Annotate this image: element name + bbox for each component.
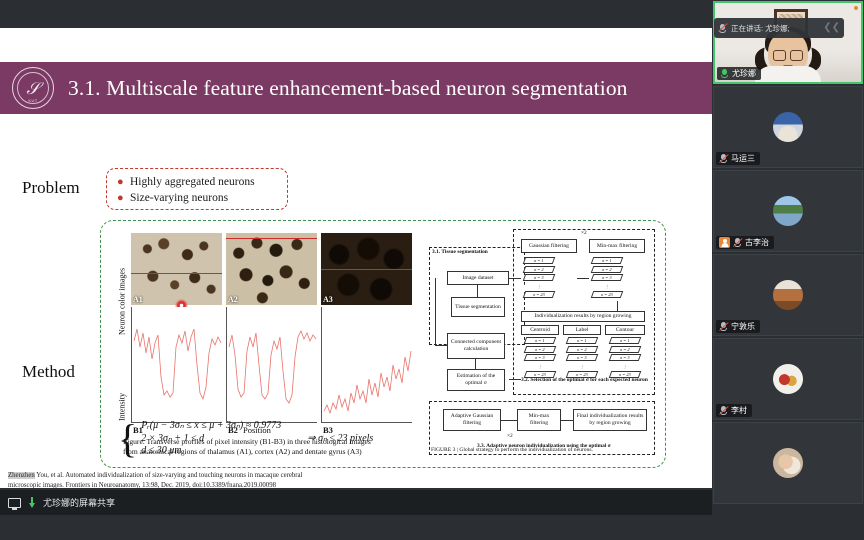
sigma-stack-centroid: σ = 1 σ = 2 σ = 3 ⋮ σ = 23	[525, 337, 555, 378]
box-estimation-optimal-sigma: Estimation of the optimal σ	[447, 369, 505, 391]
method-label: Method	[22, 362, 75, 382]
sigma-layer: σ = 2	[591, 266, 624, 273]
sigma-layer-ellipsis: ⋮	[524, 363, 557, 370]
histology-image-row: A1 A2 A3	[131, 233, 413, 305]
scan-line	[226, 238, 317, 239]
sigma-stack-contour: σ = 1 σ = 2 σ = 3 ⋮ σ = 23	[610, 337, 640, 378]
host-badge-icon	[719, 237, 730, 248]
equation-line-2: 2 × 3σₙ + 1 ≤ d	[141, 433, 281, 446]
profile-line-b3	[322, 307, 413, 423]
section-title-1: 3.1. Tissue segmentation	[432, 249, 488, 255]
sigma-layer: σ = 2	[523, 266, 556, 273]
participant-name: 尤珍娜	[732, 68, 756, 79]
participant-name-badge: 宁敦乐	[716, 320, 760, 333]
equation-line-3: d ≤ 30 μm	[141, 445, 281, 458]
arrow-connector	[509, 379, 521, 380]
arrow-connector	[509, 278, 521, 279]
sigma-stack-gaussian: σ = 1 σ = 2 σ = 3 ⋮ σ = 23	[524, 257, 554, 298]
arrow-connector	[477, 285, 478, 297]
mic-muted-icon[interactable]	[718, 23, 727, 34]
list-item: ● Highly aggregated neurons	[117, 174, 279, 190]
box-minmax-filtering: Min-max filtering	[589, 239, 645, 253]
zoom-meeting-window: 𝒮 KUT 3.1. Multiscale feature enhancemen…	[0, 0, 864, 540]
sigma-stack-label: σ = 1 σ = 2 σ = 3 ⋮ σ = 23	[567, 337, 597, 378]
sigma-layer-ellipsis: ⋮	[523, 283, 556, 290]
screen-share-status-bar: 尤珍娜的屏幕共享	[0, 490, 712, 515]
participant-name: 李村	[731, 405, 747, 416]
participant-name: 宁敦乐	[731, 321, 755, 332]
citation-line1: You, et al. Automated individualization …	[35, 472, 303, 479]
box-region-growing: Individualization results by region grow…	[521, 311, 645, 322]
presentation-slide: 𝒮 KUT 3.1. Multiscale feature enhancemen…	[0, 28, 712, 488]
method-flow-diagram: 3.1. Tissue segmentation Image dataset T…	[429, 227, 657, 463]
video-tile-speaker[interactable]: 尤珍娜	[713, 1, 863, 84]
arrow-connector	[475, 359, 476, 369]
sigma-layer: σ = 23	[524, 371, 557, 378]
box-gaussian-filtering: Gaussian filtering	[521, 239, 577, 253]
mic-muted-icon	[719, 321, 728, 332]
active-speaker-bar[interactable]: 正在讲话: 尤珍娜; ❮❮	[714, 18, 844, 38]
sigma-layer: σ = 2	[609, 346, 642, 353]
avatar	[773, 448, 803, 478]
participant-name-badge: 李村	[716, 404, 752, 417]
participant-name: 马运三	[731, 153, 755, 164]
citation-footnote: Zhenzhen You, et al. Automated individua…	[8, 471, 428, 488]
sigma-layer: σ = 1	[524, 337, 557, 344]
arrow-connector	[435, 278, 436, 346]
box-contour: Contour	[605, 325, 645, 335]
box-tissue-segmentation: Tissue segmentation	[451, 297, 505, 317]
glasses-icon	[773, 50, 803, 59]
histology-image-a2: A2	[226, 233, 317, 305]
sigma-layer: σ = 1	[609, 337, 642, 344]
sigma-layer: σ = 23	[609, 371, 642, 378]
intensity-plot-b2: B2	[226, 307, 317, 423]
sigma-layer: σ = 3	[524, 354, 557, 361]
participant-name-badge: 尤珍娜	[717, 67, 761, 80]
video-tile-participant[interactable]: 马运三	[713, 86, 863, 168]
sigma-layer-ellipsis: ⋮	[566, 363, 599, 370]
sigma-layer: σ = 2	[524, 346, 557, 353]
image-tag: A2	[228, 295, 238, 304]
screen-share-icon	[8, 498, 21, 508]
bullet-icon: ●	[117, 174, 130, 190]
participant-sidebar[interactable]: 尤珍娜 马运三 古李治 宁敦乐	[712, 0, 864, 540]
citation-line2: microscopic images. Frontiers in Neuroan…	[8, 481, 428, 489]
shared-screen-area: 𝒮 KUT 3.1. Multiscale feature enhancemen…	[0, 0, 712, 515]
participant-name: 古李治	[745, 237, 769, 248]
sigma-layer: σ = 3	[609, 354, 642, 361]
chevron-collapse-icon[interactable]: ❮❮	[823, 23, 840, 33]
person-shirt	[755, 66, 821, 82]
scan-line	[321, 269, 412, 270]
problem-section: Problem ● Highly aggregated neurons ● Si…	[0, 166, 712, 212]
video-tile-participant[interactable]: 李村	[713, 338, 863, 420]
arrow-connector	[435, 345, 448, 346]
box-adaptive-gaussian: Adaptive Gaussian filtering	[443, 409, 501, 431]
mic-muted-icon	[719, 405, 728, 416]
mic-muted-icon	[719, 153, 728, 164]
avatar	[773, 196, 803, 226]
arrow-connector	[617, 301, 618, 311]
brace-icon: {	[118, 422, 137, 456]
x2-label-bottom: ×2	[507, 433, 513, 439]
bullet-text: Highly aggregated neurons	[130, 174, 255, 190]
box-final-result: Final individualization results by regio…	[573, 409, 647, 431]
video-tile-participant[interactable]: 古李治	[713, 170, 863, 252]
logo-text: KUT	[13, 98, 53, 103]
active-speaker-label: 正在讲话: 尤珍娜;	[731, 23, 790, 34]
profile-line-b2	[227, 307, 318, 423]
equation-block: { Pᵣ(μ − 3σₙ ≤ x ≤ μ + 3σₙ) ≈ 0.9773 2 ×…	[118, 420, 418, 458]
citation-highlight: Zhenzhen	[8, 472, 35, 479]
sigma-layer: σ = 1	[591, 257, 624, 264]
participant-name-badge: 马运三	[716, 152, 760, 165]
sigma-layer: σ = 3	[523, 274, 556, 281]
x2-label-top: ×2	[581, 230, 587, 236]
avatar	[773, 364, 803, 394]
problem-box: ● Highly aggregated neurons ● Size-varyi…	[106, 168, 288, 210]
box-label: Label	[563, 325, 601, 335]
sigma-layer-ellipsis: ⋮	[591, 283, 624, 290]
scan-line	[131, 273, 222, 274]
y-axis-label-images: Neuron color images	[115, 235, 129, 367]
equation-line-1: Pᵣ(μ − 3σₙ ≤ x ≤ μ + 3σₙ) ≈ 0.9773	[141, 420, 281, 433]
participant-name-badge: 古李治	[716, 236, 774, 249]
image-tag: A1	[133, 295, 143, 304]
sigma-layer: σ = 3	[566, 354, 599, 361]
box-centroid: Centroid	[521, 325, 559, 335]
page-title: 3.1. Multiscale feature enhancement-base…	[68, 76, 628, 101]
sigma-layer: σ = 3	[591, 274, 624, 281]
video-tile-participant[interactable]: 宁敦乐	[713, 254, 863, 336]
slide-title-bar: 𝒮 KUT 3.1. Multiscale feature enhancemen…	[0, 62, 712, 114]
equation-result: ⇒ σₙ ≤ 23 pixels	[307, 433, 373, 444]
avatar	[773, 280, 803, 310]
arrow-connector	[561, 420, 573, 421]
histology-image-a3: A3	[321, 233, 412, 305]
avatar	[773, 112, 803, 142]
problem-label: Problem	[22, 178, 80, 198]
arrow-down-icon	[27, 497, 37, 509]
intensity-plot-row: B1 B2 B3	[131, 307, 413, 423]
mic-muted-icon	[733, 237, 742, 248]
box-connected-component: Connected component calculation	[447, 333, 505, 359]
sigma-layer: σ = 23	[523, 291, 556, 298]
sigma-layer: σ = 23	[591, 291, 624, 298]
sigma-layer-ellipsis: ⋮	[609, 363, 642, 370]
intensity-plot-b3: B3	[321, 307, 412, 423]
recording-indicator-dot	[854, 6, 858, 10]
screen-share-label: 尤珍娜的屏幕共享	[43, 496, 115, 509]
sigma-layer: σ = 1	[566, 337, 599, 344]
image-tag: A3	[323, 295, 333, 304]
histology-image-a1: A1	[131, 233, 222, 305]
list-item: ● Size-varying neurons	[117, 190, 279, 206]
mic-on-icon	[720, 68, 729, 79]
box-image-dataset: Image dataset	[447, 271, 509, 285]
university-logo-icon: 𝒮 KUT	[12, 67, 54, 109]
video-tile-participant[interactable]	[713, 422, 863, 504]
sigma-layer: σ = 23	[566, 371, 599, 378]
intensity-plot-b1: B1	[131, 307, 222, 423]
box-minmax-filtering-2: Min-max filtering	[517, 409, 561, 431]
sigma-layer: σ = 2	[566, 346, 599, 353]
bullet-text: Size-varying neurons	[130, 190, 228, 206]
bullet-icon: ●	[117, 190, 130, 206]
flow-figure-caption: FIGURE 3 | Global strategy to perform th…	[431, 447, 657, 453]
sigma-layer: σ = 1	[523, 257, 556, 264]
profile-line-b1	[132, 307, 223, 423]
arrow-connector	[577, 278, 589, 279]
arrow-connector	[501, 420, 517, 421]
sigma-stack-minmax: σ = 1 σ = 2 σ = 3 ⋮ σ = 23	[592, 257, 622, 298]
